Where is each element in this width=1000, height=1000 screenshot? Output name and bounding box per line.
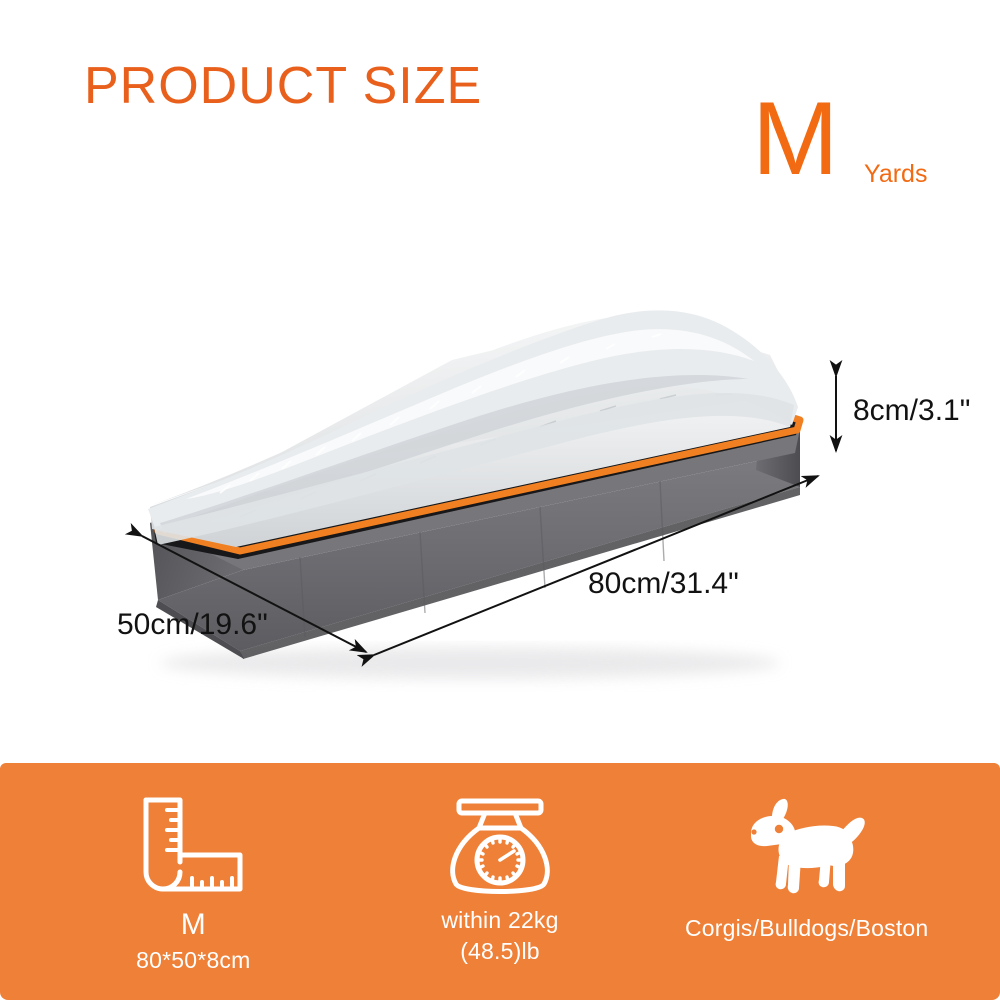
- dog-bed-illustration: [0, 255, 1000, 695]
- dog-icon-glyph: [741, 796, 873, 902]
- ruler-tape-icon-glyph: [134, 796, 252, 902]
- product-image: [0, 255, 1000, 695]
- feature-breeds-label: Corgis/Bulldogs/Boston: [685, 913, 928, 944]
- feature-weight-kg: within 22kg: [441, 905, 558, 936]
- size-badge-letter: M: [752, 84, 837, 194]
- product-size-infographic: PRODUCT SIZE M Yards: [0, 0, 1000, 1000]
- feature-breeds: Corgis/Bulldogs/Boston: [653, 793, 960, 944]
- size-badge-word: Yards: [864, 160, 927, 189]
- dog-nose: [751, 829, 756, 834]
- weight-scale-icon-glyph: [442, 796, 558, 902]
- feature-size: M 80*50*8cm: [40, 793, 347, 976]
- page-title: PRODUCT SIZE: [84, 56, 482, 116]
- ruler-tape-icon: [134, 793, 252, 905]
- feature-weight-lb: (48.5)lb: [460, 936, 540, 967]
- feature-size-dimensions: 80*50*8cm: [136, 945, 250, 976]
- feature-weight: within 22kg (48.5)lb: [347, 793, 654, 967]
- size-badge: M Yards: [752, 98, 952, 208]
- feature-size-label: M: [181, 905, 206, 945]
- dog-eye: [774, 825, 782, 833]
- weight-scale-icon: [442, 793, 558, 905]
- footer-band: M 80*50*8cm: [0, 763, 1000, 1000]
- dog-icon: [741, 793, 873, 905]
